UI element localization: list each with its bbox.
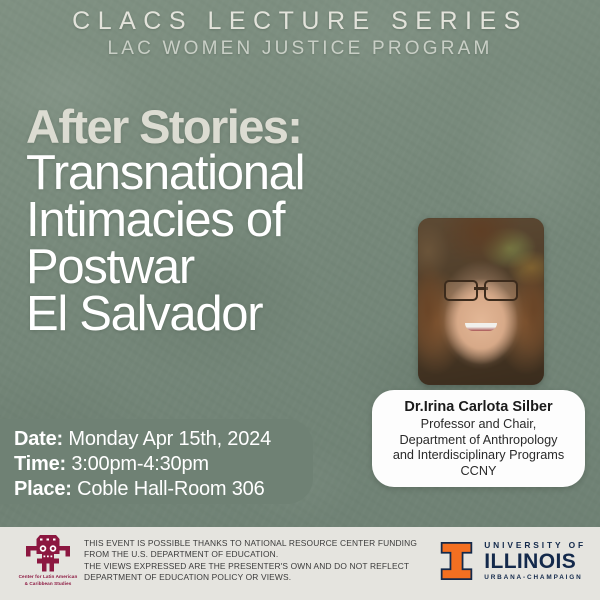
glasses-icon	[444, 280, 518, 297]
illinois-main-line: ILLINOIS	[484, 551, 586, 573]
event-date-row: Date: Monday Apr 15th, 2024	[14, 427, 313, 452]
speaker-role-line-2: Department of Anthropology	[400, 433, 558, 449]
speaker-role-line-1: Professor and Chair,	[421, 417, 537, 433]
poster-footer: Center for Latin American & Caribbean St…	[0, 527, 600, 600]
series-title: CLACS LECTURE SERIES	[0, 6, 600, 36]
funding-disclaimer: THIS EVENT IS POSSIBLE THANKS TO NATIONA…	[84, 538, 434, 583]
illinois-wordmark: UNIVERSITY OF ILLINOIS URBANA-CHAMPAIGN	[484, 540, 586, 582]
event-place-row: Place: Coble Hall-Room 306	[14, 477, 313, 502]
clacs-figure-icon	[25, 533, 71, 573]
title-line-3: Intimacies of	[26, 197, 426, 244]
event-date-label: Date:	[14, 428, 63, 450]
event-poster: CLACS LECTURE SERIES LAC WOMEN JUSTICE P…	[0, 0, 600, 600]
speaker-role-line-3: and Interdisciplinary Programs	[393, 448, 564, 464]
title-line-2: Transnational	[26, 150, 426, 197]
event-place-value: Coble Hall-Room 306	[77, 478, 264, 500]
title-line-5: El Salvador	[26, 291, 426, 338]
disclaimer-line-1: THIS EVENT IS POSSIBLE THANKS TO NATIONA…	[84, 538, 434, 549]
poster-header: CLACS LECTURE SERIES LAC WOMEN JUSTICE P…	[0, 6, 600, 61]
clacs-caption-line-2: & Caribbean Studies	[25, 581, 72, 587]
event-time-value: 3:00pm-4:30pm	[71, 453, 208, 475]
disclaimer-line-2: FROM THE U.S. DEPARTMENT OF EDUCATION.	[84, 549, 434, 560]
event-place-label: Place:	[14, 478, 72, 500]
portrait-hair	[418, 218, 544, 385]
clacs-caption-line-1: Center for Latin American	[19, 574, 78, 580]
clacs-logo: Center for Latin American & Caribbean St…	[16, 533, 80, 593]
illinois-block-i-icon	[440, 541, 473, 581]
title-line-4: Postwar	[26, 244, 426, 291]
lecture-title: After Stories: Transnational Intimacies …	[26, 103, 426, 338]
event-time-label: Time:	[14, 453, 66, 475]
disclaimer-line-4: DEPARTMENT OF EDUCATION POLICY OR VIEWS.	[84, 572, 434, 583]
speaker-role-line-4: CCNY	[461, 464, 497, 480]
title-line-1: After Stories:	[26, 103, 426, 150]
event-details-panel: Date: Monday Apr 15th, 2024 Time: 3:00pm…	[0, 419, 313, 504]
disclaimer-line-3: THE VIEWS EXPRESSED ARE THE PRESENTER'S …	[84, 561, 434, 572]
portrait-smile	[465, 323, 497, 331]
illinois-bottom-line: URBANA-CHAMPAIGN	[484, 573, 586, 582]
event-date-value: Monday Apr 15th, 2024	[68, 428, 271, 450]
event-time-row: Time: 3:00pm-4:30pm	[14, 452, 313, 477]
university-of-illinois-logo: UNIVERSITY OF ILLINOIS URBANA-CHAMPAIGN	[440, 540, 586, 582]
program-subtitle: LAC WOMEN JUSTICE PROGRAM	[0, 37, 600, 61]
speaker-info-card: Dr.Irina Carlota Silber Professor and Ch…	[372, 390, 585, 487]
speaker-name: Dr.Irina Carlota Silber	[404, 398, 552, 416]
speaker-portrait-photo	[418, 218, 544, 385]
